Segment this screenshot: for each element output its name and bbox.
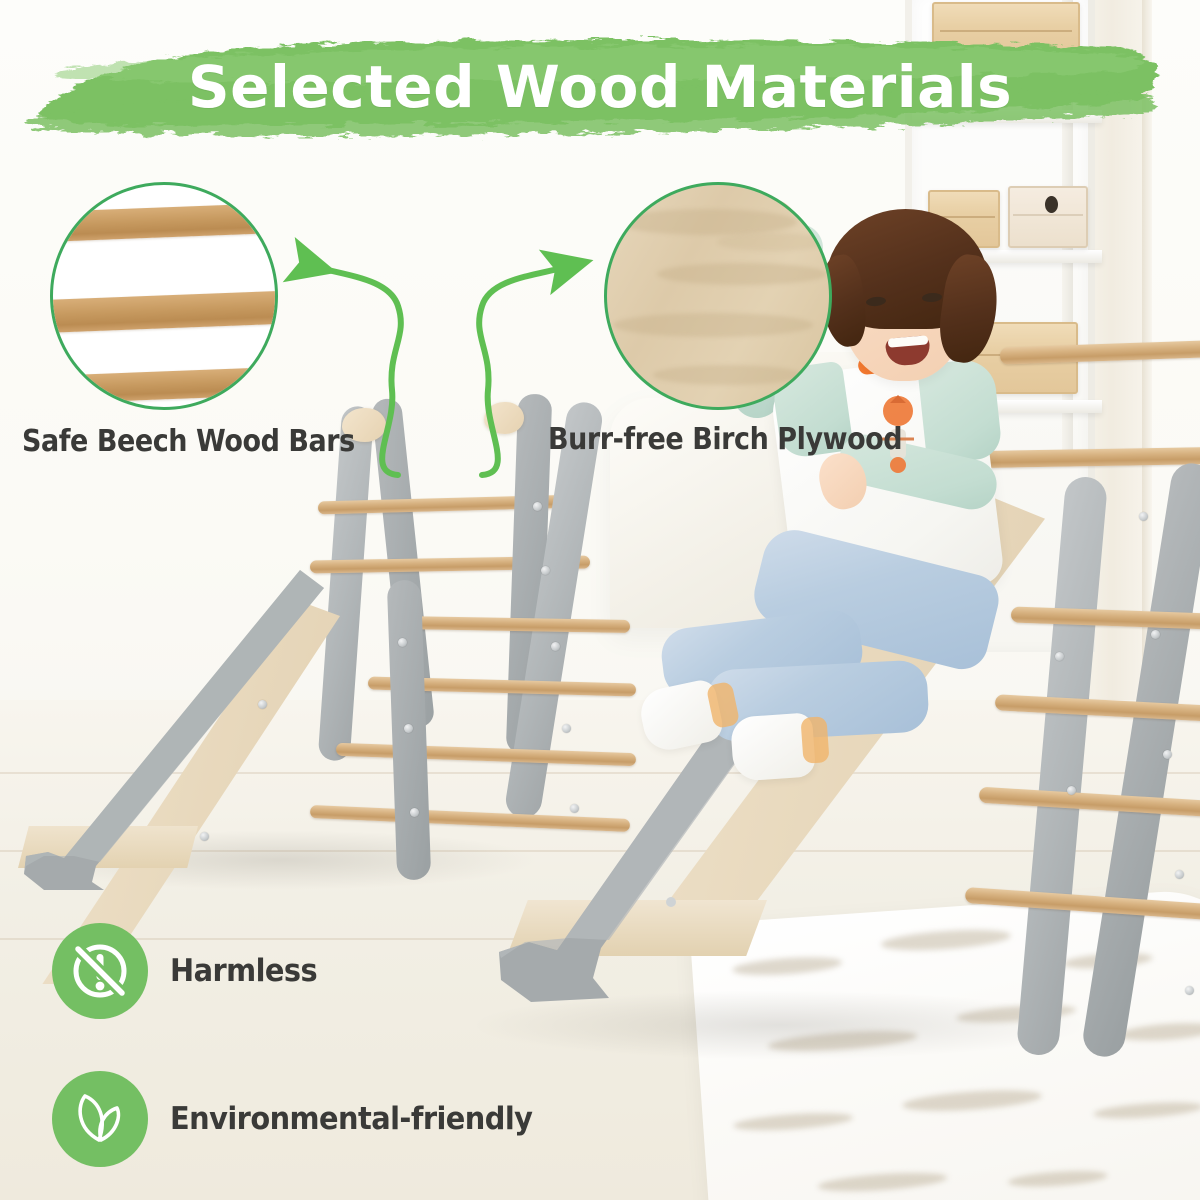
leaf-icon bbox=[52, 1071, 148, 1167]
feature-label-environmental-friendly: Environmental-friendly bbox=[170, 1101, 532, 1137]
arrow-to-beech-icon bbox=[280, 240, 410, 500]
no-harm-icon bbox=[52, 923, 148, 1019]
beech-bar-stripe bbox=[50, 290, 278, 334]
feature-harmless: Harmless bbox=[52, 923, 328, 1019]
arrow-to-birch-icon bbox=[470, 240, 600, 500]
sock-cuff bbox=[800, 716, 829, 764]
slide-rail-front bbox=[8, 566, 328, 886]
page-title: Selected Wood Materials bbox=[0, 58, 1200, 116]
screw bbox=[404, 724, 413, 733]
callout-beech-wood-closeup bbox=[50, 182, 278, 410]
feature-environmental-friendly: Environmental-friendly bbox=[52, 1071, 560, 1167]
title-banner: Selected Wood Materials bbox=[0, 24, 1200, 144]
feature-label-harmless: Harmless bbox=[170, 953, 317, 989]
infographic-canvas: Safe Beech Wood Bars Burr-free Birch Ply… bbox=[0, 0, 1200, 1200]
screw bbox=[1185, 986, 1194, 995]
screw bbox=[1151, 630, 1160, 639]
screw bbox=[200, 832, 209, 841]
beech-rung bbox=[965, 887, 1200, 921]
callout-caption-birch: Burr-free Birch Plywood bbox=[548, 422, 902, 457]
screw bbox=[1175, 870, 1184, 879]
screw bbox=[1139, 512, 1148, 521]
screw bbox=[410, 808, 419, 817]
callout-birch-plywood-closeup bbox=[604, 182, 832, 410]
screw bbox=[398, 638, 407, 647]
screw bbox=[1163, 750, 1172, 759]
callout-caption-beech: Safe Beech Wood Bars bbox=[22, 424, 355, 459]
screw bbox=[258, 700, 267, 709]
